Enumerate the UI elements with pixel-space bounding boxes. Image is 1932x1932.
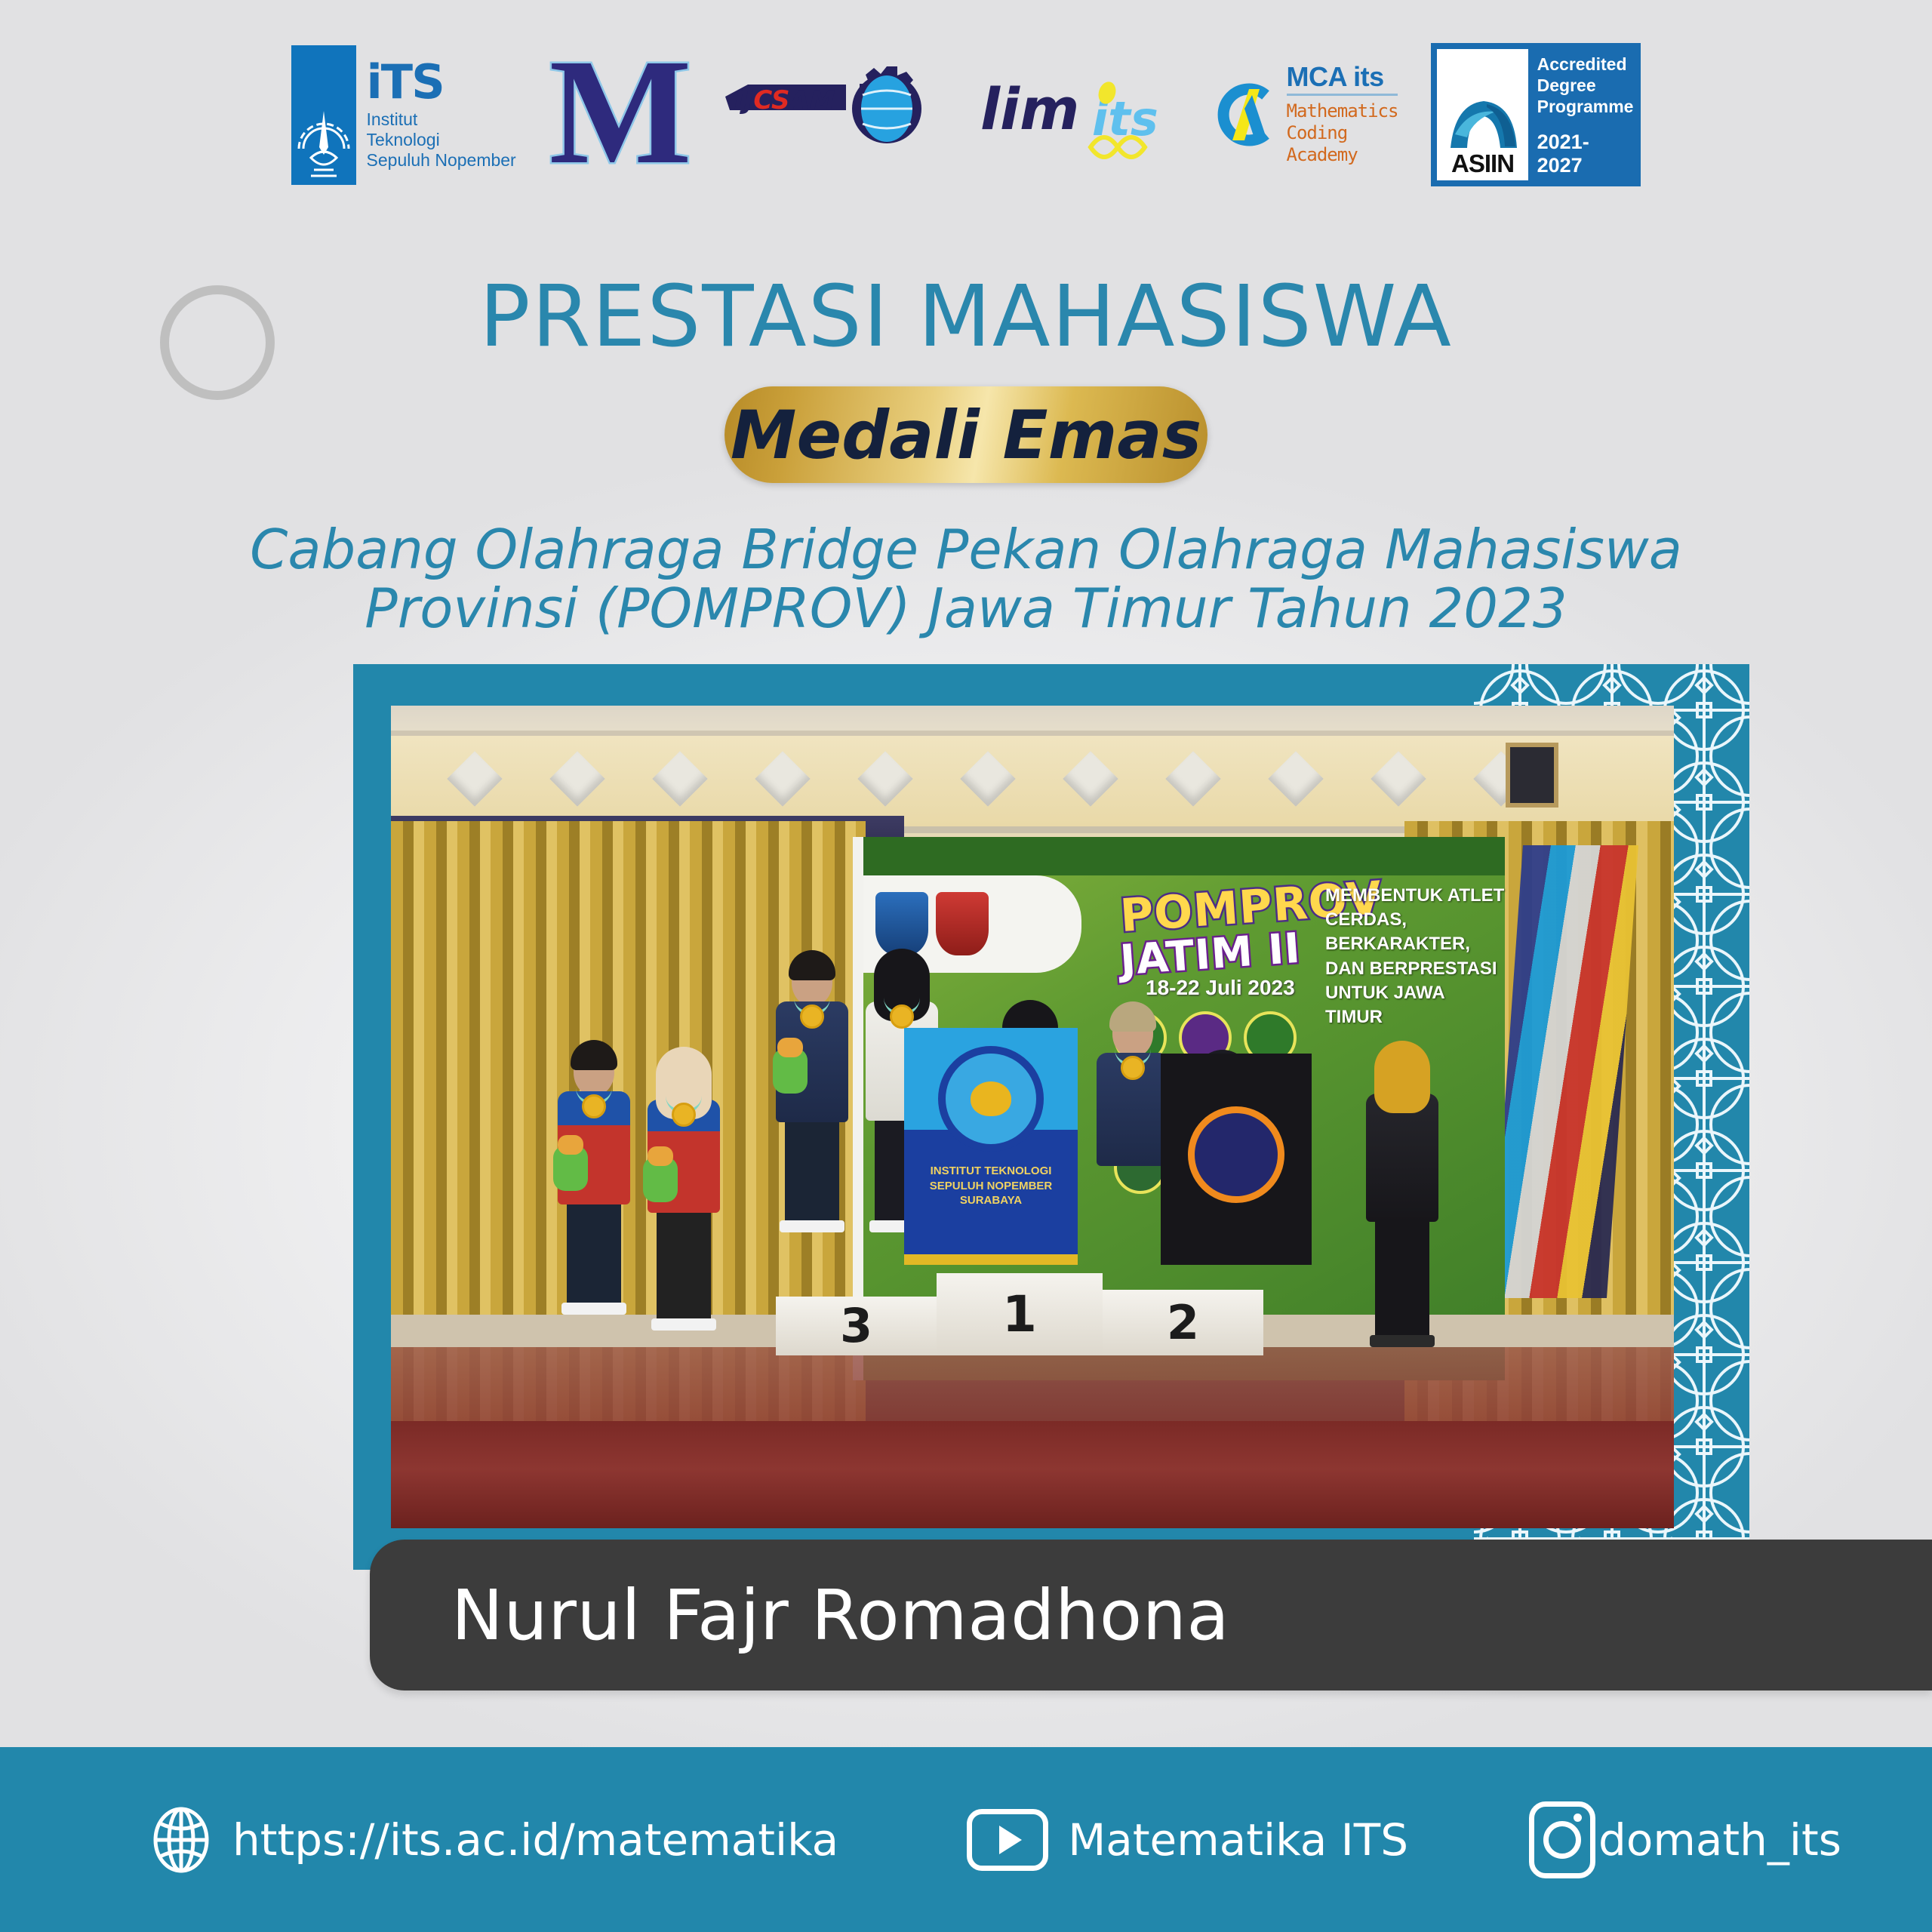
- footer-website-label: https://its.ac.id/matematika: [232, 1814, 838, 1866]
- instagram-icon: [1529, 1801, 1595, 1878]
- logo-bar: iTS Institut Teknologi Sepuluh Nopember …: [0, 39, 1932, 190]
- its-abbrev: iTS: [367, 59, 516, 106]
- logo-its: iTS Institut Teknologi Sepuluh Nopember: [291, 45, 516, 185]
- athlete-figure: [776, 958, 848, 1232]
- footer-bar: https://its.ac.id/matematika Matematika …: [0, 1747, 1932, 1932]
- banner-tagline-line-2: BERKARAKTER,: [1325, 932, 1505, 956]
- banner-tagline-line-1: MEMBENTUK ATLET CERDAS,: [1325, 884, 1505, 933]
- banner-date: 18-22 Juli 2023: [1146, 976, 1295, 1000]
- mca-line-3: Academy: [1287, 144, 1398, 166]
- asiin-arch-icon: [1443, 89, 1523, 151]
- logo-asiin: ASIIN Accredited Degree Programme 2021-2…: [1431, 43, 1641, 186]
- logo-mathematics-m: M: [549, 58, 692, 171]
- page-title: PRESTASI MAHASISWA: [0, 268, 1932, 366]
- footer-website-link[interactable]: https://its.ac.id/matematika: [148, 1807, 838, 1873]
- its-flag: INSTITUT TEKNOLOGI SEPULUH NOPEMBER SURA…: [904, 1028, 1078, 1265]
- asiin-accredited-line-2: Degree: [1537, 75, 1634, 96]
- athlete-figure: [648, 1056, 720, 1331]
- asiin-accredited-line-1: Accredited: [1537, 54, 1634, 75]
- mca-title: MCA its: [1287, 63, 1398, 96]
- ijcsam-wordmark: IJCSAM: [734, 85, 835, 115]
- official-figure: [1366, 1050, 1438, 1347]
- its-emblem-icon: [291, 45, 356, 185]
- podium-place-2: 2: [1103, 1290, 1263, 1355]
- ijcsam-gear-globe-icon: IJCSAM: [725, 54, 944, 175]
- subtitle-line-2: Provinsi (POMPROV) Jawa Timur Tahun 2023: [0, 580, 1932, 638]
- logo-mca-its: MCA its Mathematics Coding Academy: [1207, 63, 1398, 167]
- poster-root: iTS Institut Teknologi Sepuluh Nopember …: [0, 0, 1932, 1932]
- footer-instagram-label: domath_its: [1598, 1814, 1841, 1866]
- wall-picture-frame: [1506, 743, 1558, 808]
- mca-monogram-icon: [1207, 78, 1279, 151]
- asiin-accredited-line-3: Programme: [1537, 96, 1634, 117]
- its-flag-caption-line-2: SURABAYA: [904, 1193, 1078, 1208]
- footer-youtube-link[interactable]: Matematika ITS: [967, 1809, 1408, 1871]
- asiin-validity-years: 2021-2027: [1537, 131, 1634, 177]
- mca-line-2: Coding: [1287, 122, 1398, 144]
- youtube-icon: [967, 1809, 1048, 1871]
- podium-place-1: 1: [937, 1273, 1103, 1355]
- globe-icon: [148, 1807, 214, 1873]
- footer-instagram-link[interactable]: domath_its: [1529, 1801, 1841, 1878]
- podium: 3 1 2: [776, 1273, 1263, 1355]
- banner-tagline-line-3: DAN BERPRESTASI UNTUK JAWA TIMUR: [1325, 957, 1505, 1030]
- footer-youtube-label: Matematika ITS: [1068, 1814, 1408, 1866]
- student-name-bar: Nurul Fajr Romadhona: [370, 1540, 1932, 1690]
- svg-text:lim: lim: [980, 75, 1079, 143]
- subtitle-line-1: Cabang Olahraga Bridge Pekan Olahraga Ma…: [0, 521, 1932, 580]
- page-subtitle: Cabang Olahraga Bridge Pekan Olahraga Ma…: [0, 521, 1932, 638]
- limits-wordmark-icon: lim its: [977, 66, 1174, 164]
- polinema-flag: [1161, 1054, 1312, 1265]
- its-name-line-3: Sepuluh Nopember: [367, 150, 516, 171]
- its-name-line-2: Teknologi: [367, 130, 516, 150]
- its-name-line-1: Institut: [367, 109, 516, 130]
- mca-line-1: Mathematics: [1287, 100, 1398, 122]
- photo-frame: POMPROV JATIM II 18-22 Juli 2023 MEMBENT…: [353, 664, 1749, 1570]
- athlete-figure: [558, 1048, 630, 1315]
- math-m-letter: M: [549, 54, 692, 171]
- student-name: Nurul Fajr Romadhona: [451, 1575, 1229, 1656]
- award-badge: Medali Emas: [724, 386, 1207, 483]
- asiin-wordmark: ASIIN: [1451, 151, 1514, 176]
- logo-limits: lim its: [977, 66, 1174, 164]
- athlete-figure: [1097, 1009, 1169, 1166]
- podium-place-3: 3: [776, 1297, 937, 1355]
- logo-ijcsam: IJCSAM: [725, 54, 944, 175]
- achievement-photo: POMPROV JATIM II 18-22 Juli 2023 MEMBENT…: [391, 706, 1674, 1528]
- award-badge-label: Medali Emas: [731, 396, 1201, 474]
- its-flag-caption-line-1: INSTITUT TEKNOLOGI SEPULUH NOPEMBER: [904, 1164, 1078, 1193]
